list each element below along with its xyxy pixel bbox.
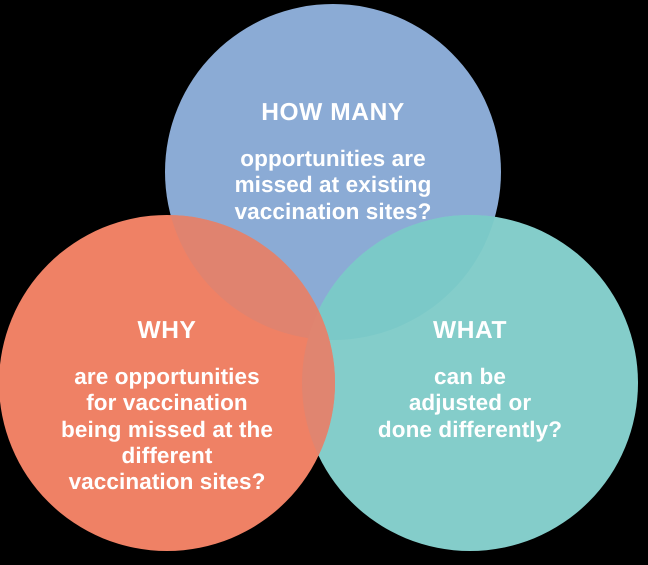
caption-heading-how-many: HOW MANY: [178, 99, 488, 128]
caption-heading-what: WHAT: [330, 317, 610, 346]
venn-diagram: HOW MANY opportunities are missed at exi…: [0, 0, 648, 565]
caption-body-how-many: opportunities are missed at existing vac…: [178, 146, 488, 225]
circle-caption-how-many: HOW MANY opportunities are missed at exi…: [178, 80, 488, 244]
circle-caption-what: WHAT can be adjusted or done differently…: [330, 298, 610, 462]
caption-heading-why: WHY: [12, 317, 322, 346]
caption-body-why: are opportunities for vaccination being …: [12, 364, 322, 496]
circle-caption-why: WHY are opportunities for vaccination be…: [12, 298, 322, 514]
caption-body-what: can be adjusted or done differently?: [330, 364, 610, 443]
